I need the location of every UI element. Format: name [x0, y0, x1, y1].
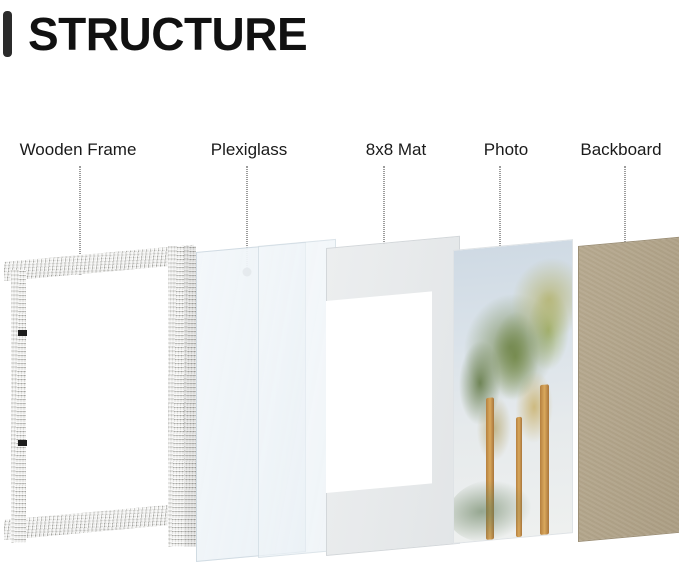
layer-mat: [326, 236, 460, 556]
frame-clip-upper: [18, 330, 27, 336]
mat-window-opening: [326, 291, 432, 493]
title-accent-bar: [3, 11, 12, 57]
frame-rail-right-depth: [184, 246, 196, 547]
callout-label: 8x8 Mat: [366, 140, 426, 160]
infographic-canvas: STRUCTURE Wooden FramePlexiglass8x8 MatP…: [0, 0, 679, 573]
frame-rail-left: [11, 270, 26, 543]
callout-label: Photo: [484, 140, 528, 160]
layer-wooden-frame: [4, 246, 209, 564]
layer-photo: [453, 239, 573, 544]
frame-rail-top: [4, 245, 194, 281]
layer-backboard: [578, 237, 679, 542]
frame-clip-lower: [18, 440, 27, 446]
page-title: STRUCTURE: [0, 8, 307, 60]
title-text: STRUCTURE: [28, 11, 307, 57]
photo-palm-trunk-right: [540, 384, 549, 535]
frame-rail-right: [168, 246, 184, 547]
frame-rail-bottom: [4, 503, 194, 540]
callout-label: Backboard: [580, 140, 661, 160]
callout-label: Plexiglass: [211, 140, 288, 160]
layer-plexiglass-second-pane: [258, 239, 336, 558]
callout-label: Wooden Frame: [20, 140, 137, 160]
